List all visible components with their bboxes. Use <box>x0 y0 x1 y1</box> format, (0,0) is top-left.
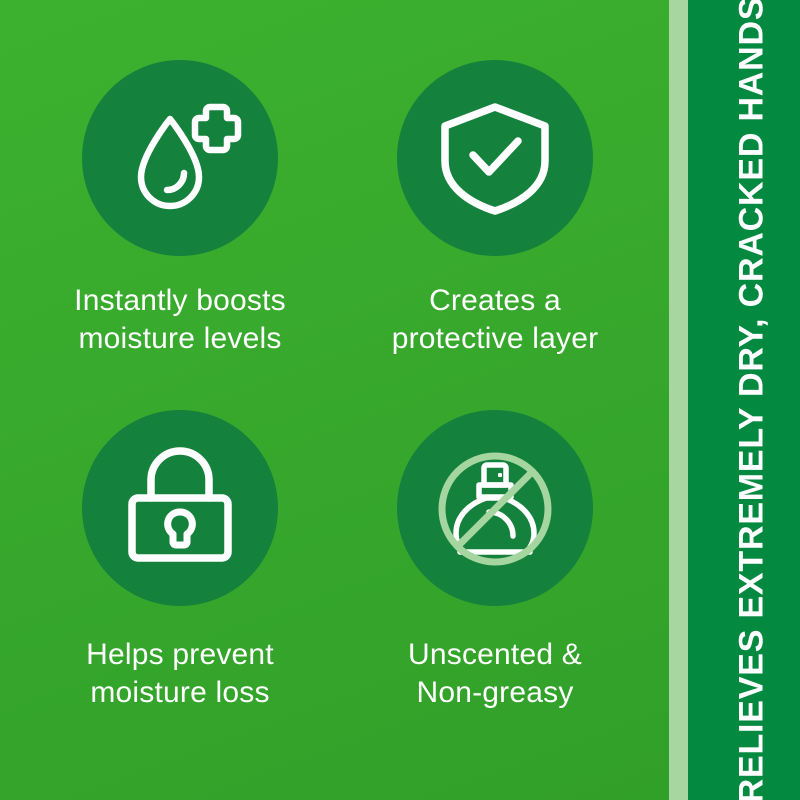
feature-label-moisture-boost: Instantly boosts moisture levels <box>30 282 330 358</box>
icon-circle-prevent-loss <box>82 410 278 606</box>
water-droplet-plus-icon <box>115 93 245 223</box>
side-banner-text: RELIEVES EXTREMELY DRY, CRACKED HANDS <box>734 0 768 800</box>
shield-check-icon <box>434 97 556 219</box>
icon-circle-unscented <box>397 410 593 606</box>
feature-item-moisture-boost: Instantly boosts moisture levels <box>30 60 330 358</box>
feature-label-unscented: Unscented & Non-greasy <box>345 636 645 712</box>
infographic-canvas: RELIEVES EXTREMELY DRY, CRACKED HANDS In… <box>0 0 800 800</box>
feature-grid: Instantly boosts moisture levels Creates… <box>0 0 669 800</box>
divider-stripe <box>669 0 688 800</box>
feature-item-protective-layer: Creates a protective layer <box>345 60 645 358</box>
feature-item-prevent-loss: Helps prevent moisture loss <box>30 410 330 712</box>
feature-item-unscented: Unscented & Non-greasy <box>345 410 645 712</box>
no-fragrance-bottle-icon <box>430 443 560 573</box>
padlock-icon <box>120 446 240 570</box>
feature-label-prevent-loss: Helps prevent moisture loss <box>30 636 330 712</box>
icon-circle-protective-layer <box>397 60 593 256</box>
icon-circle-moisture-boost <box>82 60 278 256</box>
side-banner: RELIEVES EXTREMELY DRY, CRACKED HANDS <box>688 0 800 800</box>
feature-label-protective-layer: Creates a protective layer <box>345 282 645 358</box>
